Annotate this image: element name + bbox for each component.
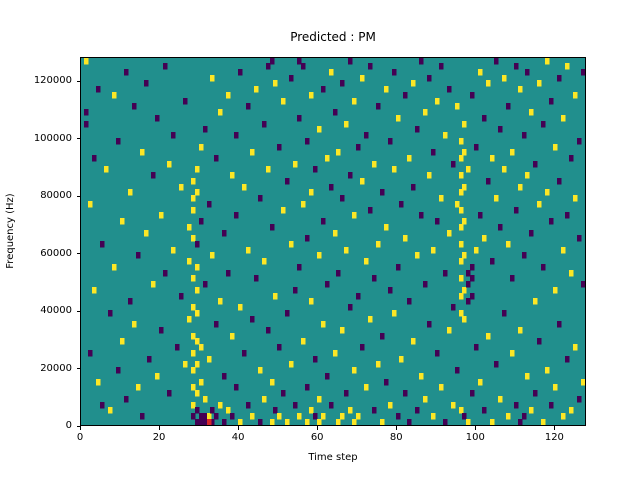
x-tick-label: 100 [445,431,505,445]
y-tick-mark [77,368,81,369]
x-tick-label: 80 [366,431,426,445]
x-tick-mark [396,426,397,430]
y-tick-mark [77,253,81,254]
matplotlib-figure: Predicted : PM Frequency (Hz) Time step … [0,0,640,480]
y-tick-mark [77,196,81,197]
x-tick-label: 40 [208,431,268,445]
x-tick-mark [317,426,318,430]
y-tick-label: 80000 [0,189,72,203]
heatmap-plot-area[interactable] [80,57,586,426]
x-tick-mark [475,426,476,430]
x-tick-label: 0 [50,431,110,445]
y-tick-label: 40000 [0,304,72,318]
y-tick-mark [77,81,81,82]
x-tick-label: 20 [129,431,189,445]
x-tick-label: 60 [287,431,347,445]
x-tick-mark [159,426,160,430]
page-title: Predicted : PM [80,30,586,44]
x-axis-label: Time step [80,452,586,464]
y-tick-label: 100000 [0,132,72,146]
x-tick-mark [80,426,81,430]
y-tick-mark [77,138,81,139]
x-tick-mark [554,426,555,430]
y-tick-mark [77,311,81,312]
y-axis-label: Frequency (Hz) [5,81,17,381]
y-tick-label: 120000 [0,74,72,88]
heatmap-image [81,58,585,425]
y-tick-label: 60000 [0,247,72,261]
y-tick-label: 20000 [0,362,72,376]
x-tick-mark [238,426,239,430]
x-tick-label: 120 [524,431,584,445]
